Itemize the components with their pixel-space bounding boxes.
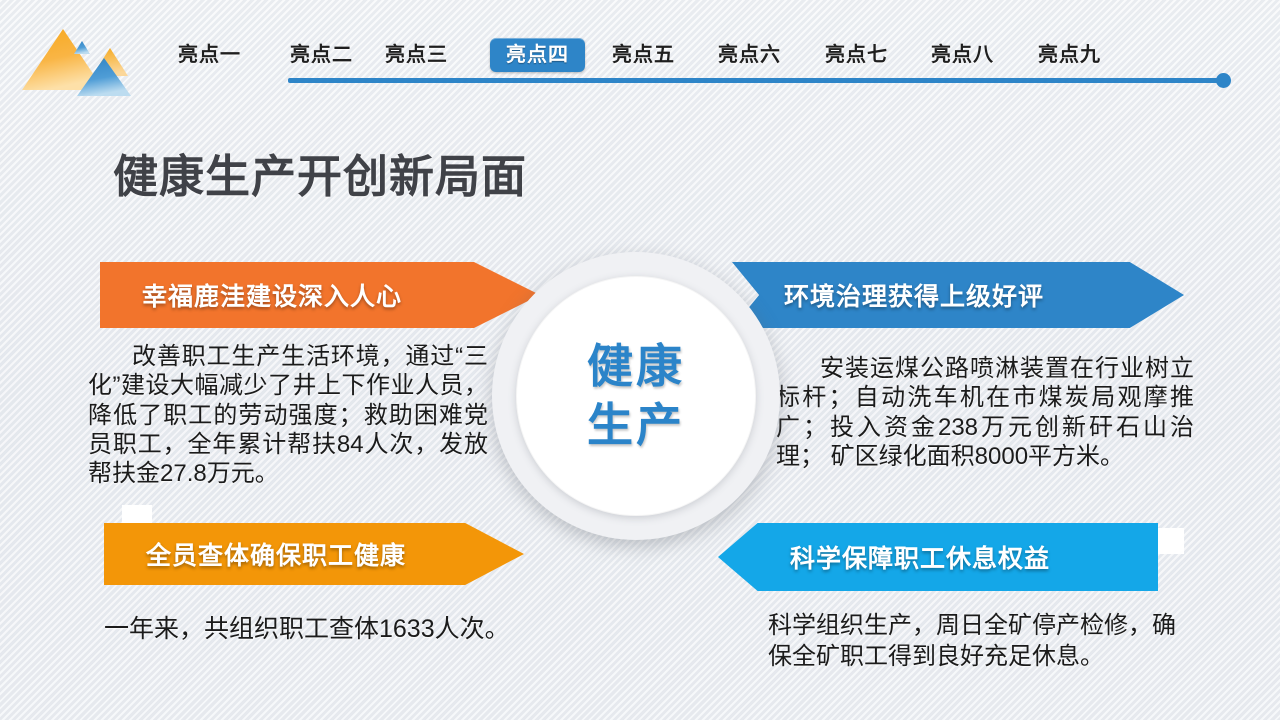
text-bottom-left: 一年来，共组织职工查体1633人次。 <box>104 614 574 645</box>
banner-top-left-label: 幸福鹿洼建设深入人心 <box>142 277 402 313</box>
nav-item-5[interactable]: 亮点五 <box>612 38 675 72</box>
nav-item-7[interactable]: 亮点七 <box>825 38 888 72</box>
nav-item-9[interactable]: 亮点九 <box>1038 38 1101 72</box>
page-title: 健康生产开创新局面 <box>113 140 527 205</box>
mountain-logo <box>18 26 140 98</box>
nav-underline <box>288 78 1220 83</box>
nav-item-3[interactable]: 亮点三 <box>385 38 448 72</box>
center-circle: 健康 生产 <box>492 252 780 540</box>
nav-item-6[interactable]: 亮点六 <box>718 38 781 72</box>
center-circle-inner: 健康 生产 <box>516 276 756 516</box>
top-navigation[interactable]: 亮点一 亮点二 亮点三 亮点四 亮点五 亮点六 亮点七 亮点八 亮点九 <box>150 38 1250 78</box>
banner-bottom-left[interactable]: 全员查体确保职工健康 <box>104 523 524 585</box>
banner-bottom-left-label: 全员查体确保职工健康 <box>146 536 406 572</box>
nav-end-dot-icon <box>1216 73 1231 88</box>
banner-bottom-right[interactable]: 科学保障职工休息权益 <box>718 523 1158 591</box>
slide-canvas: 亮点一 亮点二 亮点三 亮点四 亮点五 亮点六 亮点七 亮点八 亮点九 健康生产… <box>0 0 1280 720</box>
nav-item-8[interactable]: 亮点八 <box>931 38 994 72</box>
center-label-line2: 生产 <box>587 396 685 455</box>
notch-bottom-right <box>1158 528 1184 554</box>
text-top-left: 改善职工生产生活环境，通过“三化”建设大幅减少了井上下作业人员，降低了职工的劳动… <box>88 342 488 488</box>
center-label-line1: 健康 <box>587 337 685 396</box>
nav-item-2[interactable]: 亮点二 <box>290 38 353 72</box>
banner-top-right-label: 环境治理获得上级好评 <box>784 277 1044 313</box>
banner-bottom-right-label: 科学保障职工休息权益 <box>790 539 1050 575</box>
nav-item-1[interactable]: 亮点一 <box>178 38 241 72</box>
mountain-logo-svg <box>18 26 140 98</box>
banner-top-left[interactable]: 幸福鹿洼建设深入人心 <box>100 262 540 328</box>
banner-top-right[interactable]: 环境治理获得上级好评 <box>732 262 1184 328</box>
text-top-right: 安装运煤公路喷淋装置在行业树立标杆；自动洗车机在市煤炭局观摩推广；投入资金238… <box>776 354 1194 471</box>
text-bottom-right: 科学组织生产，周日全矿停产检修，确保全矿职工得到良好充足休息。 <box>768 610 1198 672</box>
nav-item-4[interactable]: 亮点四 <box>490 38 585 72</box>
